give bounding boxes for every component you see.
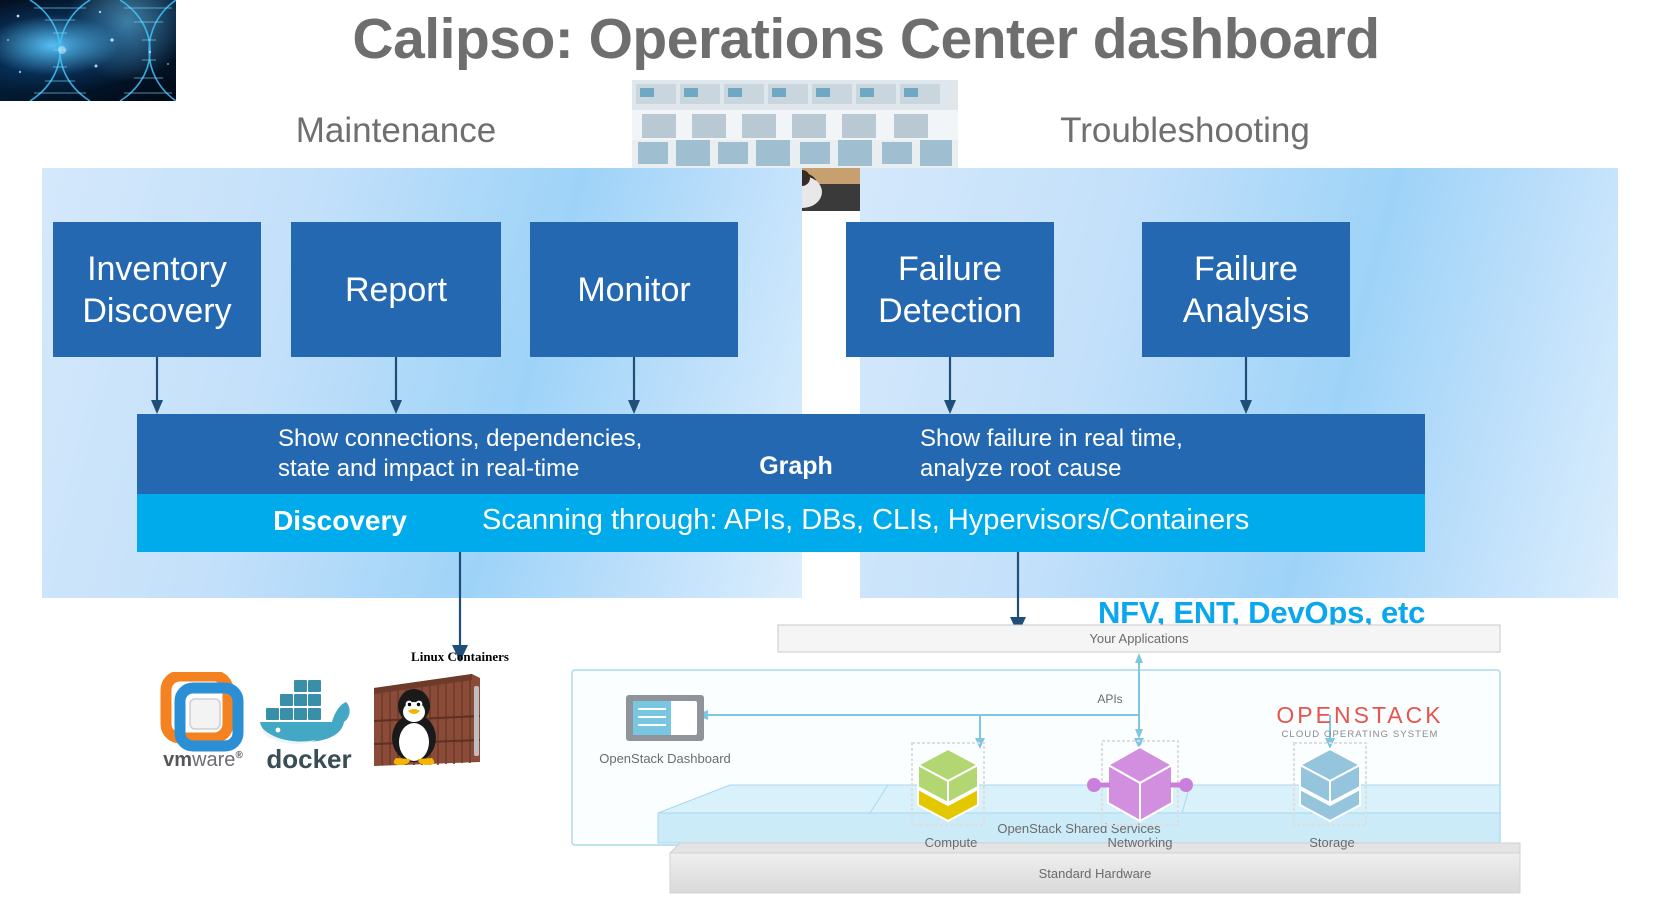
box-inventory-discovery[interactable]: Inventory Discovery bbox=[53, 222, 261, 357]
openstack-apis-label: APIs bbox=[1097, 692, 1122, 706]
openstack-shared-label: OpenStack Shared Services bbox=[997, 821, 1161, 836]
graph-left-line1: Show connections, dependencies, bbox=[278, 425, 642, 452]
openstack-networking-label: Networking bbox=[1107, 835, 1172, 850]
graph-label: Graph bbox=[736, 452, 856, 481]
vmware-logo: vmware® bbox=[160, 672, 246, 772]
svg-text:docker: docker bbox=[266, 744, 351, 772]
graph-description-right: Show failure in real time, analyze root … bbox=[920, 424, 1340, 484]
openstack-compute-label: Compute bbox=[925, 835, 978, 850]
box-failure-analysis-line1: Failure bbox=[1194, 250, 1298, 288]
docker-logo: docker bbox=[256, 672, 362, 772]
box-monitor-label: Monitor bbox=[577, 269, 690, 311]
box-failure-detection-line2: Detection bbox=[878, 292, 1022, 330]
graph-right-line1: Show failure in real time, bbox=[920, 425, 1183, 452]
box-failure-detection[interactable]: Failure Detection bbox=[846, 222, 1054, 357]
box-inventory-line1: Inventory bbox=[87, 250, 227, 288]
discovery-description: Scanning through: APIs, DBs, CLIs, Hyper… bbox=[482, 504, 1412, 537]
openstack-storage-label: Storage bbox=[1309, 835, 1355, 850]
openstack-architecture-diagram: Your Applications APIs bbox=[570, 615, 1550, 901]
openstack-brandtop-label: OPENSTACK bbox=[1276, 702, 1443, 728]
linux-container-image bbox=[368, 666, 486, 771]
box-monitor[interactable]: Monitor bbox=[530, 222, 738, 357]
openstack-yourapps-label: Your Applications bbox=[1089, 631, 1189, 646]
dna-logo-image bbox=[0, 0, 176, 101]
openstack-hardware-label: Standard Hardware bbox=[1039, 866, 1152, 881]
svg-text:vmware®: vmware® bbox=[163, 749, 243, 771]
box-report-label: Report bbox=[345, 269, 447, 311]
linux-containers-label: Linux Containers bbox=[380, 649, 540, 665]
heading-troubleshooting: Troubleshooting bbox=[960, 110, 1410, 152]
openstack-dashboard-label: OpenStack Dashboard bbox=[599, 751, 731, 766]
graph-description-left: Show connections, dependencies, state an… bbox=[278, 424, 698, 484]
discovery-label: Discovery bbox=[250, 505, 430, 537]
box-failure-detection-line1: Failure bbox=[898, 250, 1002, 288]
page-title: Calipso: Operations Center dashboard bbox=[176, 4, 1556, 74]
box-failure-analysis[interactable]: Failure Analysis bbox=[1142, 222, 1350, 357]
graph-left-line2: state and impact in real-time bbox=[278, 455, 579, 482]
box-inventory-line2: Discovery bbox=[82, 292, 231, 330]
graph-right-line2: analyze root cause bbox=[920, 455, 1121, 482]
box-report[interactable]: Report bbox=[291, 222, 501, 357]
box-failure-analysis-line2: Analysis bbox=[1183, 292, 1310, 330]
openstack-brandsub-label: CLOUD OPERATING SYSTEM bbox=[1281, 729, 1438, 740]
heading-maintenance: Maintenance bbox=[196, 110, 596, 152]
